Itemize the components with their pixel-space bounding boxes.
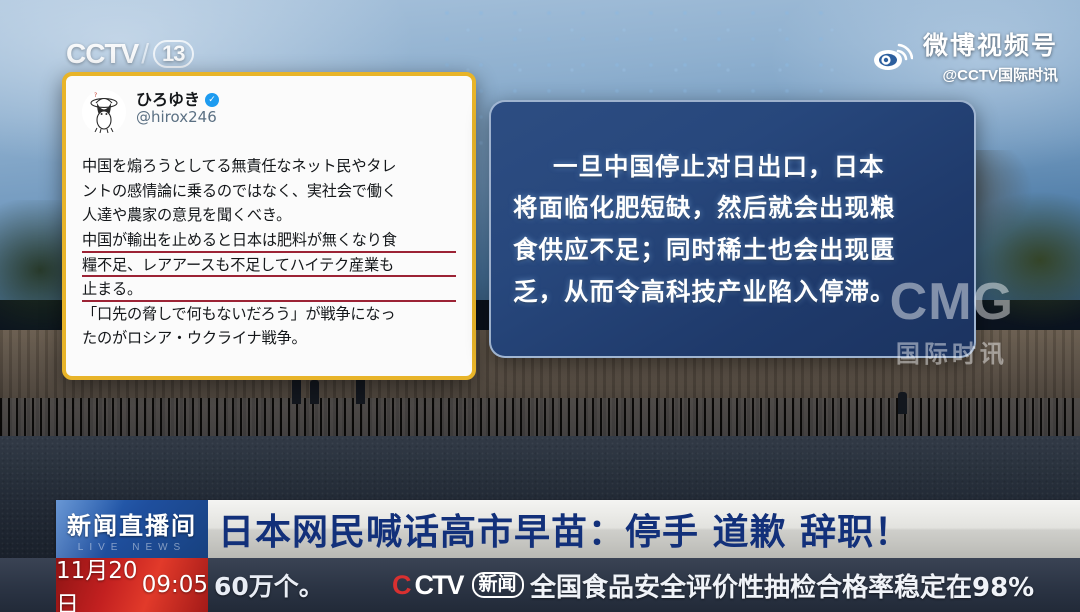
channel-number: 13 [153,40,193,68]
tweet-line-highlighted: 糧不足、レアアースも不足してハイテク産業も [82,253,456,278]
translation-line: 食供应不足；同时稀土也会出现匮 [513,230,952,270]
translation-panel: 一旦中国停止对日出口，日本 将面临化肥短缺，然后就会出现粮 食供应不足；同时稀土… [489,100,976,358]
cctv-news-logo: C CTV 新闻 [392,558,524,612]
translation-line: 将面临化肥短缺，然后就会出现粮 [513,188,952,228]
weibo-eye-icon [873,41,913,71]
cartoon-avatar-icon: ? [82,90,126,134]
tweet-handle: @hirox246 [136,109,219,126]
tweet-display-name: ひろゆき [136,91,200,109]
channel-logo-text: CCTV [66,38,138,70]
translation-line: 一旦中国停止对日出口，日本 [513,147,952,187]
svg-text:?: ? [94,92,97,99]
tweet-line-highlighted: 止まる。 [82,277,456,302]
ticker-headline: 全国食品安全评价性抽检合格率稳定在98% [530,558,1034,612]
tweet-screenshot-card: ? ひろゆき ✓ @hirox246 中国を煽ろうとしてる無責任なネット民やタレ… [62,72,476,380]
program-badge-en: LIVE NEWS [78,542,186,553]
tweet-line: 中国を煽ろうとしてる無責任なネット民やタレ [82,154,456,179]
tweet-identity: ひろゆき ✓ @hirox246 [136,90,219,127]
channel-logo-slash: / [141,38,148,70]
cctv-news-c: C [392,570,410,601]
program-badge-cn: 新闻直播间 [67,506,197,541]
cctv-news-cn-box: 新闻 [472,572,524,598]
time-text: 09:05 [142,572,208,598]
weibo-watermark: 微博视频号 @CCTV国际时讯 [873,26,1058,85]
cctv-news-letters: CTV [415,570,463,601]
tweet-header: ? ひろゆき ✓ @hirox246 [82,90,456,146]
tweet-line-highlighted: 中国が輸出を止めると日本は肥料が無くなり食 [82,228,456,253]
tweet-body-text: 中国を煽ろうとしてる無責任なネット民やタレ ントの感情論に乗るのではなく、実社会… [82,154,456,351]
ticker-tail-text: 60万个。 [214,558,324,612]
tweet-line: 人達や農家の意見を聞くべき。 [82,203,456,228]
broadcast-screenshot: CCTV / 13 微博视频号 @CCTV国际时讯 [0,0,1080,612]
datetime-box: 11月20日 09:05 [56,558,208,612]
program-badge: 新闻直播间 LIVE NEWS [56,500,208,558]
weibo-label-group: 微博视频号 @CCTV国际时讯 [923,26,1058,85]
translation-line: 乏，从而令高科技产业陷入停滞。 [513,272,952,312]
date-text: 11月20日 [56,558,140,612]
weibo-title: 微博视频号 [923,26,1058,62]
channel-logo-cctv13: CCTV / 13 [66,38,194,70]
tweet-line: 「口先の脅しで何もないだろう」が戦争になっ [82,302,456,327]
tweet-line: ントの感情論に乗るのではなく、実社会で働く [82,179,456,204]
tweet-line: たのがロシア・ウクライナ戦争。 [82,326,456,351]
verified-badge-icon: ✓ [205,93,219,107]
tweet-display-name-row: ひろゆき ✓ [136,91,219,109]
headline-text: 日本网民喊话高市早苗：停手 道歉 辞职！ [218,500,911,558]
weibo-handle: @CCTV国际时讯 [943,64,1058,85]
lower-third: 新闻直播间 LIVE NEWS 日本网民喊话高市早苗：停手 道歉 辞职！ 11月… [0,500,1080,612]
